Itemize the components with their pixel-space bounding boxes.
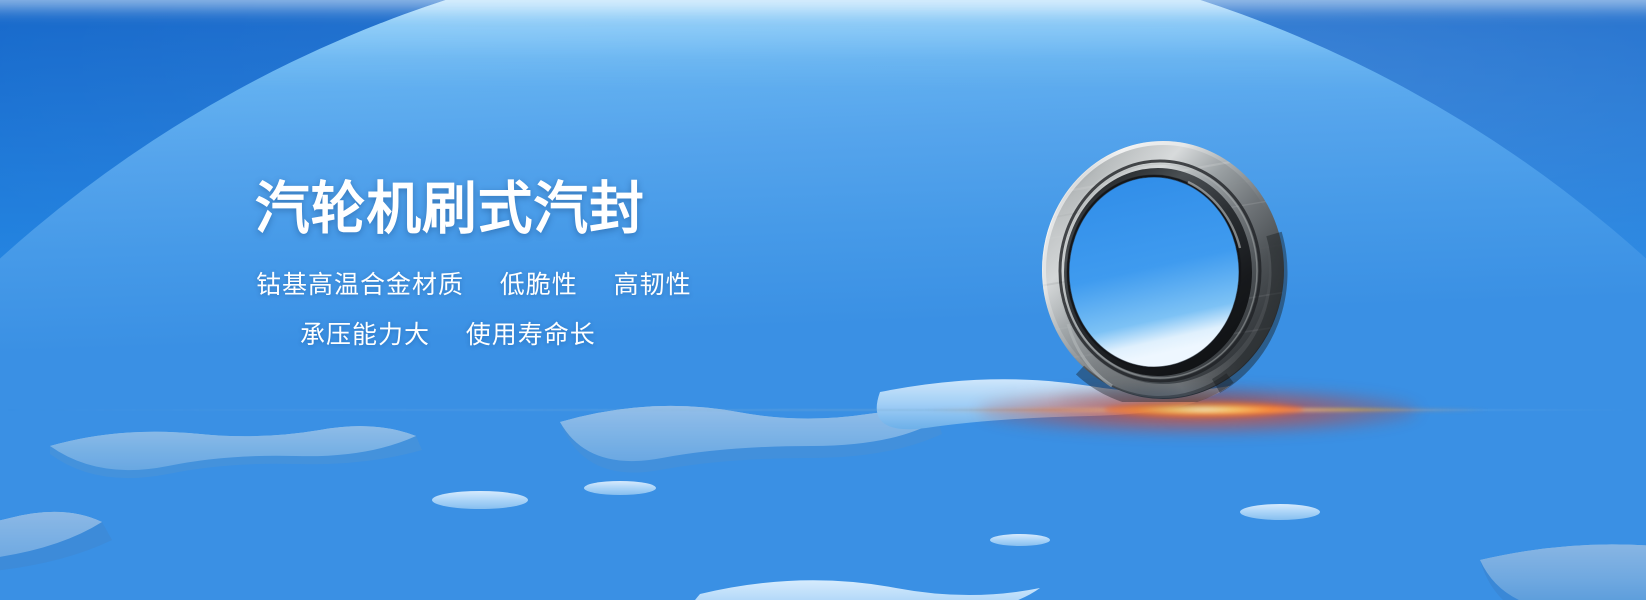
sky-gradient xyxy=(0,0,1646,600)
page-title: 汽轮机刷式汽封 xyxy=(255,178,645,240)
red-hot-lens-flare xyxy=(1048,386,1348,436)
atmosphere-glow xyxy=(0,0,1646,90)
hero-banner: 汽轮机刷式汽封 钴基高温合金材质 低脆性 高韧性 承压能力大 使用寿命长 xyxy=(0,0,1646,600)
banner-copy: 汽轮机刷式汽封 钴基高温合金材质 低脆性 高韧性 承压能力大 使用寿命长 xyxy=(0,0,1646,600)
globe-surface xyxy=(0,0,1646,600)
ring-graphic xyxy=(1038,138,1288,402)
brush-seal-ring-image xyxy=(1038,138,1288,402)
earth-globe xyxy=(0,0,1646,600)
horizon-reflection-line xyxy=(0,409,1646,411)
horizon-green-tint xyxy=(1290,408,1410,411)
subtitle-line-1: 钴基高温合金材质 低脆性 高韧性 xyxy=(256,268,692,302)
atmosphere-halo xyxy=(0,0,1646,6)
flare-core xyxy=(1104,402,1304,417)
flare-streak xyxy=(928,408,1488,412)
landmass-layer xyxy=(0,0,1646,600)
flare-halo xyxy=(978,388,1418,434)
ring-ground-shadow xyxy=(1056,386,1270,412)
subtitle-line-2: 承压能力大 使用寿命长 xyxy=(300,318,596,352)
